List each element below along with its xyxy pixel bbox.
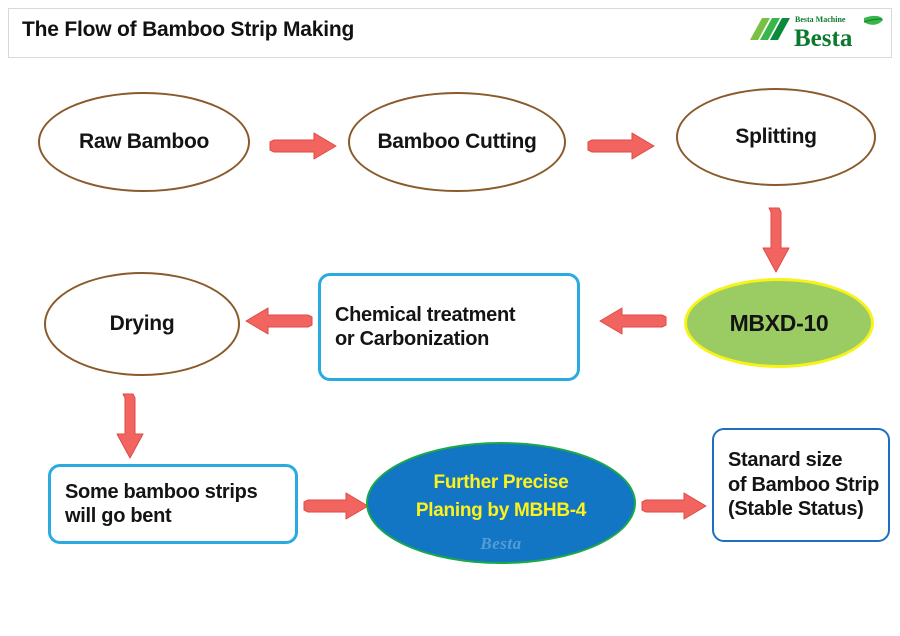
- arrow-bent-to-planing: [302, 490, 372, 524]
- node-drying-label: Drying: [46, 274, 238, 374]
- besta-machine-logo: Besta Machine Besta: [746, 10, 886, 54]
- flowchart-canvas: The Flow of Bamboo Strip Making Besta Ma…: [0, 0, 900, 636]
- node-bent-strips-label: Some bamboo strips will go bent: [51, 467, 295, 541]
- node-raw-bamboo[interactable]: Raw Bamboo: [38, 92, 250, 192]
- node-drying[interactable]: Drying: [44, 272, 240, 376]
- arrow-planing-to-standard: [640, 490, 710, 524]
- arrow-cutting-to-splitting: [586, 130, 658, 164]
- node-splitting[interactable]: Splitting: [676, 88, 876, 186]
- node-mbxd-10[interactable]: MBXD-10: [684, 278, 874, 368]
- node-splitting-label: Splitting: [678, 90, 874, 184]
- logo-leaf-icon: [864, 16, 883, 25]
- arrow-mbxd10-to-chemical: [592, 305, 668, 339]
- node-bent-strips[interactable]: Some bamboo strips will go bent: [48, 464, 298, 544]
- logo-main-text: Besta: [794, 25, 853, 52]
- node-chemical-treatment[interactable]: Chemical treatment or Carbonization: [318, 273, 580, 381]
- node-precise-planing[interactable]: Further Precise Planing by MBHB-4 Besta: [366, 442, 636, 564]
- node-bamboo-cutting-label: Bamboo Cutting: [350, 94, 564, 190]
- arrow-splitting-to-mbxd10: [758, 206, 794, 276]
- node-bamboo-cutting[interactable]: Bamboo Cutting: [348, 92, 566, 192]
- node-standard-size[interactable]: Stanard size of Bamboo Strip (Stable Sta…: [712, 428, 890, 542]
- arrow-raw-to-cutting: [268, 130, 340, 164]
- arrow-chemical-to-drying: [238, 305, 314, 339]
- logo-top-text: Besta Machine: [795, 15, 846, 24]
- node-raw-bamboo-label: Raw Bamboo: [40, 94, 248, 190]
- logo-stripes-icon: [750, 18, 790, 40]
- node-chemical-treatment-label: Chemical treatment or Carbonization: [321, 276, 577, 378]
- node-standard-size-label: Stanard size of Bamboo Strip (Stable Sta…: [714, 430, 888, 540]
- node-precise-planing-label: Further Precise Planing by MBHB-4: [368, 444, 634, 562]
- node-mbxd-10-label: MBXD-10: [687, 281, 871, 365]
- page-title: The Flow of Bamboo Strip Making: [22, 18, 354, 42]
- arrow-drying-to-bent: [112, 392, 148, 462]
